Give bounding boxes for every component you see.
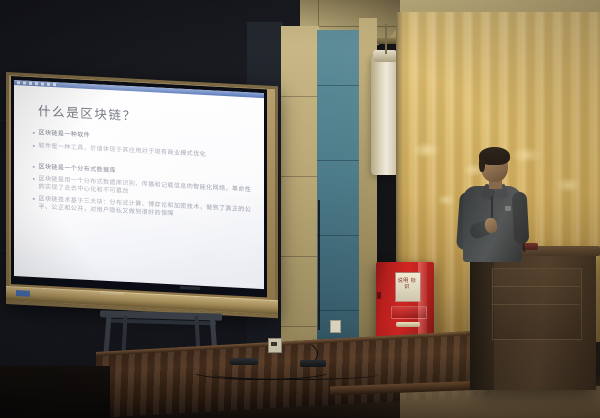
cabinet-hinge: [377, 292, 381, 299]
cabinet-vent-slot: [391, 306, 427, 319]
presentation-room-photo: 什么是区块链？ • 区块链是一种软件 • 软件是一种工具，价值体现于其应用对于现…: [0, 0, 600, 418]
slide-bullet-text: 区块链是一种软件: [39, 129, 91, 140]
shirt-logo-icon: [505, 206, 511, 211]
wall-column-beige: [281, 26, 319, 382]
floor-cable: [210, 368, 382, 380]
presenter-arm-right: [512, 192, 530, 245]
lectern-panel-line: [492, 304, 580, 305]
power-strip[interactable]: [230, 358, 258, 365]
bullet-icon: •: [32, 162, 36, 171]
rolled-projection-screen: [371, 55, 399, 175]
floor-shadow-left: [0, 366, 110, 418]
bullet-icon: •: [32, 129, 36, 138]
slide-title: 什么是区块链？: [38, 100, 254, 130]
bullet-icon: •: [32, 195, 36, 204]
projected-slide-screen[interactable]: 什么是区块链？ • 区块链是一种软件 • 软件是一种工具，价值体现于其应用对于现…: [14, 80, 264, 289]
lectern-side: [470, 256, 494, 390]
wall-cable: [318, 200, 320, 330]
screen-pull-cord[interactable]: [385, 24, 387, 54]
power-strip[interactable]: [300, 360, 326, 367]
presenter-hair-side: [479, 156, 485, 172]
slide-bullet-group-2: • 区块链是一个分布式数据库 • 区块链是用一个分布式数据库识别、传播和记载信息…: [28, 162, 254, 223]
cabinet-handle[interactable]: [396, 322, 420, 327]
bullet-icon: •: [32, 175, 36, 184]
outlet-socket-icon: [271, 342, 277, 346]
bullet-icon: •: [32, 141, 36, 150]
slide-content: 什么是区块链？ • 区块链是一种软件 • 软件是一种工具，价值体现于其应用对于现…: [14, 85, 264, 289]
brand-logo-icon: [16, 290, 30, 297]
lectern-panel-line: [492, 286, 580, 287]
presenter-shirt-placket: [491, 196, 493, 218]
wall-power-outlet[interactable]: [330, 320, 341, 333]
cabinet-label-text: 说明 标识: [396, 278, 418, 290]
